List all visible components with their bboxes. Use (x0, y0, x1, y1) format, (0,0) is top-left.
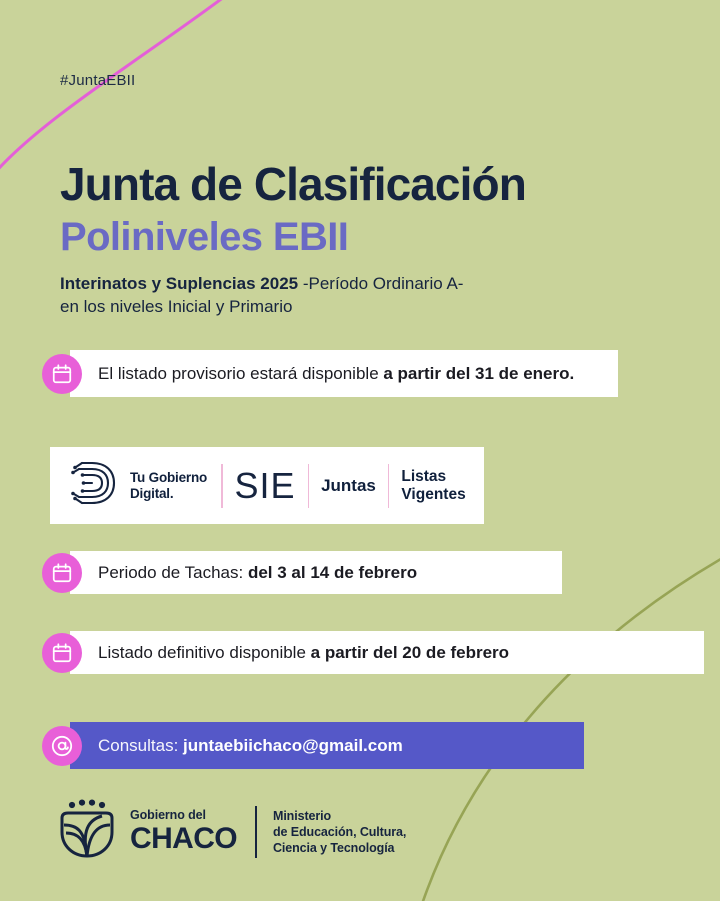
ministry-line1: Ministerio (273, 808, 406, 824)
info-row: Listado definitivo disponible a partir d… (42, 631, 704, 674)
info-text-regular: Periodo de Tachas: (98, 563, 248, 582)
info-row: Periodo de Tachas: del 3 al 14 de febrer… (42, 551, 562, 594)
info-text-bold: a partir del 31 de enero. (383, 364, 574, 383)
subtitle-bold: Interinatos y Suplencias 2025 (60, 274, 298, 293)
info-card: Listado definitivo disponible a partir d… (70, 631, 704, 674)
at-icon (42, 726, 82, 766)
page-title: Junta de Clasificación (60, 158, 680, 210)
ministry-label: Ministerio de Educación, Cultura, Cienci… (273, 808, 406, 856)
subtitle-line2: en los niveles Inicial y Primario (60, 297, 292, 316)
chaco-wordmark: Gobierno del CHACO (130, 808, 237, 855)
poster-canvas: #JuntaEBII Junta de Clasificación Polini… (0, 0, 720, 901)
info-text: Periodo de Tachas: del 3 al 14 de febrer… (98, 560, 417, 585)
info-text-regular: Listado definitivo disponible (98, 643, 311, 662)
subtitle-regular: -Período Ordinario A- (298, 274, 463, 293)
tgd-line1: Tu Gobierno (130, 470, 207, 486)
page-subtitle: Poliniveles EBII (60, 214, 680, 260)
ministry-line2: de Educación, Cultura, (273, 824, 406, 840)
listas-line2: Vigentes (401, 486, 465, 504)
listas-vigentes-label: Listas Vigentes (389, 468, 465, 504)
info-text: El listado provisorio estará disponible … (98, 361, 574, 386)
listas-line1: Listas (401, 468, 465, 486)
chaco-shield-icon (58, 798, 116, 865)
calendar-icon (42, 633, 82, 673)
contact-label: Consultas: (98, 736, 183, 755)
tu-gobierno-digital-icon (68, 458, 120, 513)
chaco-label: CHACO (130, 823, 237, 855)
subtitle-text: Interinatos y Suplencias 2025 -Período O… (60, 272, 680, 318)
ministry-line3: Ciencia y Tecnología (273, 840, 406, 856)
divider (255, 806, 257, 858)
contact-bar[interactable]: Consultas: juntaebiichaco@gmail.com (70, 722, 584, 769)
gobierno-label: Gobierno del (130, 808, 237, 823)
footer: Gobierno del CHACO Ministerio de Educaci… (58, 798, 406, 865)
info-card: Periodo de Tachas: del 3 al 14 de febrer… (70, 551, 562, 594)
info-text-bold: del 3 al 14 de febrero (248, 563, 417, 582)
info-text: Listado definitivo disponible a partir d… (98, 640, 509, 665)
tu-gobierno-digital-label: Tu Gobierno Digital. (130, 470, 207, 502)
info-card: El listado provisorio estará disponible … (70, 350, 618, 397)
info-row: El listado provisorio estará disponible … (42, 350, 618, 397)
hashtag-label: #JuntaEBII (60, 72, 135, 89)
contact-row: Consultas: juntaebiichaco@gmail.com (42, 722, 584, 769)
info-text-regular: El listado provisorio estará disponible (98, 364, 383, 383)
tgd-line2: Digital. (130, 486, 207, 502)
title-block: Junta de Clasificación Poliniveles EBII … (60, 158, 680, 318)
sie-logo-band: Tu Gobierno Digital. SIE Juntas Listas V… (50, 447, 484, 524)
calendar-icon (42, 354, 82, 394)
sie-label: SIE (223, 466, 308, 506)
info-text-bold: a partir del 20 de febrero (311, 643, 509, 662)
contact-email[interactable]: juntaebiichaco@gmail.com (183, 736, 403, 755)
calendar-icon (42, 553, 82, 593)
juntas-label: Juntas (309, 476, 388, 496)
